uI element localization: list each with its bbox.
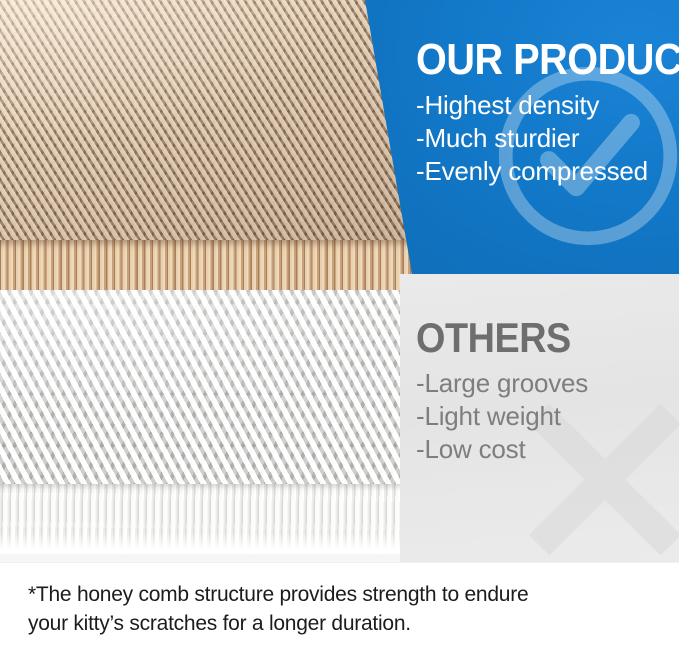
- product-comparison-graphic: OUR PRODUCT -Highest density -Much sturd…: [0, 0, 679, 645]
- others-corrugated-edge: [0, 484, 420, 554]
- others-honeycomb-surface: [0, 268, 420, 490]
- our-product-heading: OUR PRODUCT: [416, 38, 648, 82]
- others-heading: OTHERS: [416, 316, 648, 360]
- others-bullet-list: -Large grooves -Light weight -Low cost: [416, 367, 674, 466]
- list-item: -Low cost: [416, 433, 674, 466]
- product-corrugated-edge: [0, 240, 428, 290]
- footnote-line-1: *The honey comb structure provides stren…: [28, 580, 660, 609]
- list-item: -Evenly compressed: [416, 155, 674, 188]
- footer-divider: [0, 562, 679, 563]
- others-text-block: OTHERS -Large grooves -Light weight -Low…: [416, 316, 674, 466]
- footnote: *The honey comb structure provides stren…: [28, 580, 660, 638]
- others-material-photo: [0, 268, 420, 562]
- list-item: -Much sturdier: [416, 122, 674, 155]
- our-product-text-block: OUR PRODUCT -Highest density -Much sturd…: [416, 38, 674, 188]
- list-item: -Highest density: [416, 89, 674, 122]
- product-honeycomb-surface: [0, 0, 428, 248]
- list-item: -Light weight: [416, 400, 674, 433]
- our-product-bullet-list: -Highest density -Much sturdier -Evenly …: [416, 89, 674, 188]
- list-item: -Large grooves: [416, 367, 674, 400]
- footnote-line-2: your kitty’s scratches for a longer dura…: [28, 609, 660, 638]
- product-material-photo: [0, 0, 428, 290]
